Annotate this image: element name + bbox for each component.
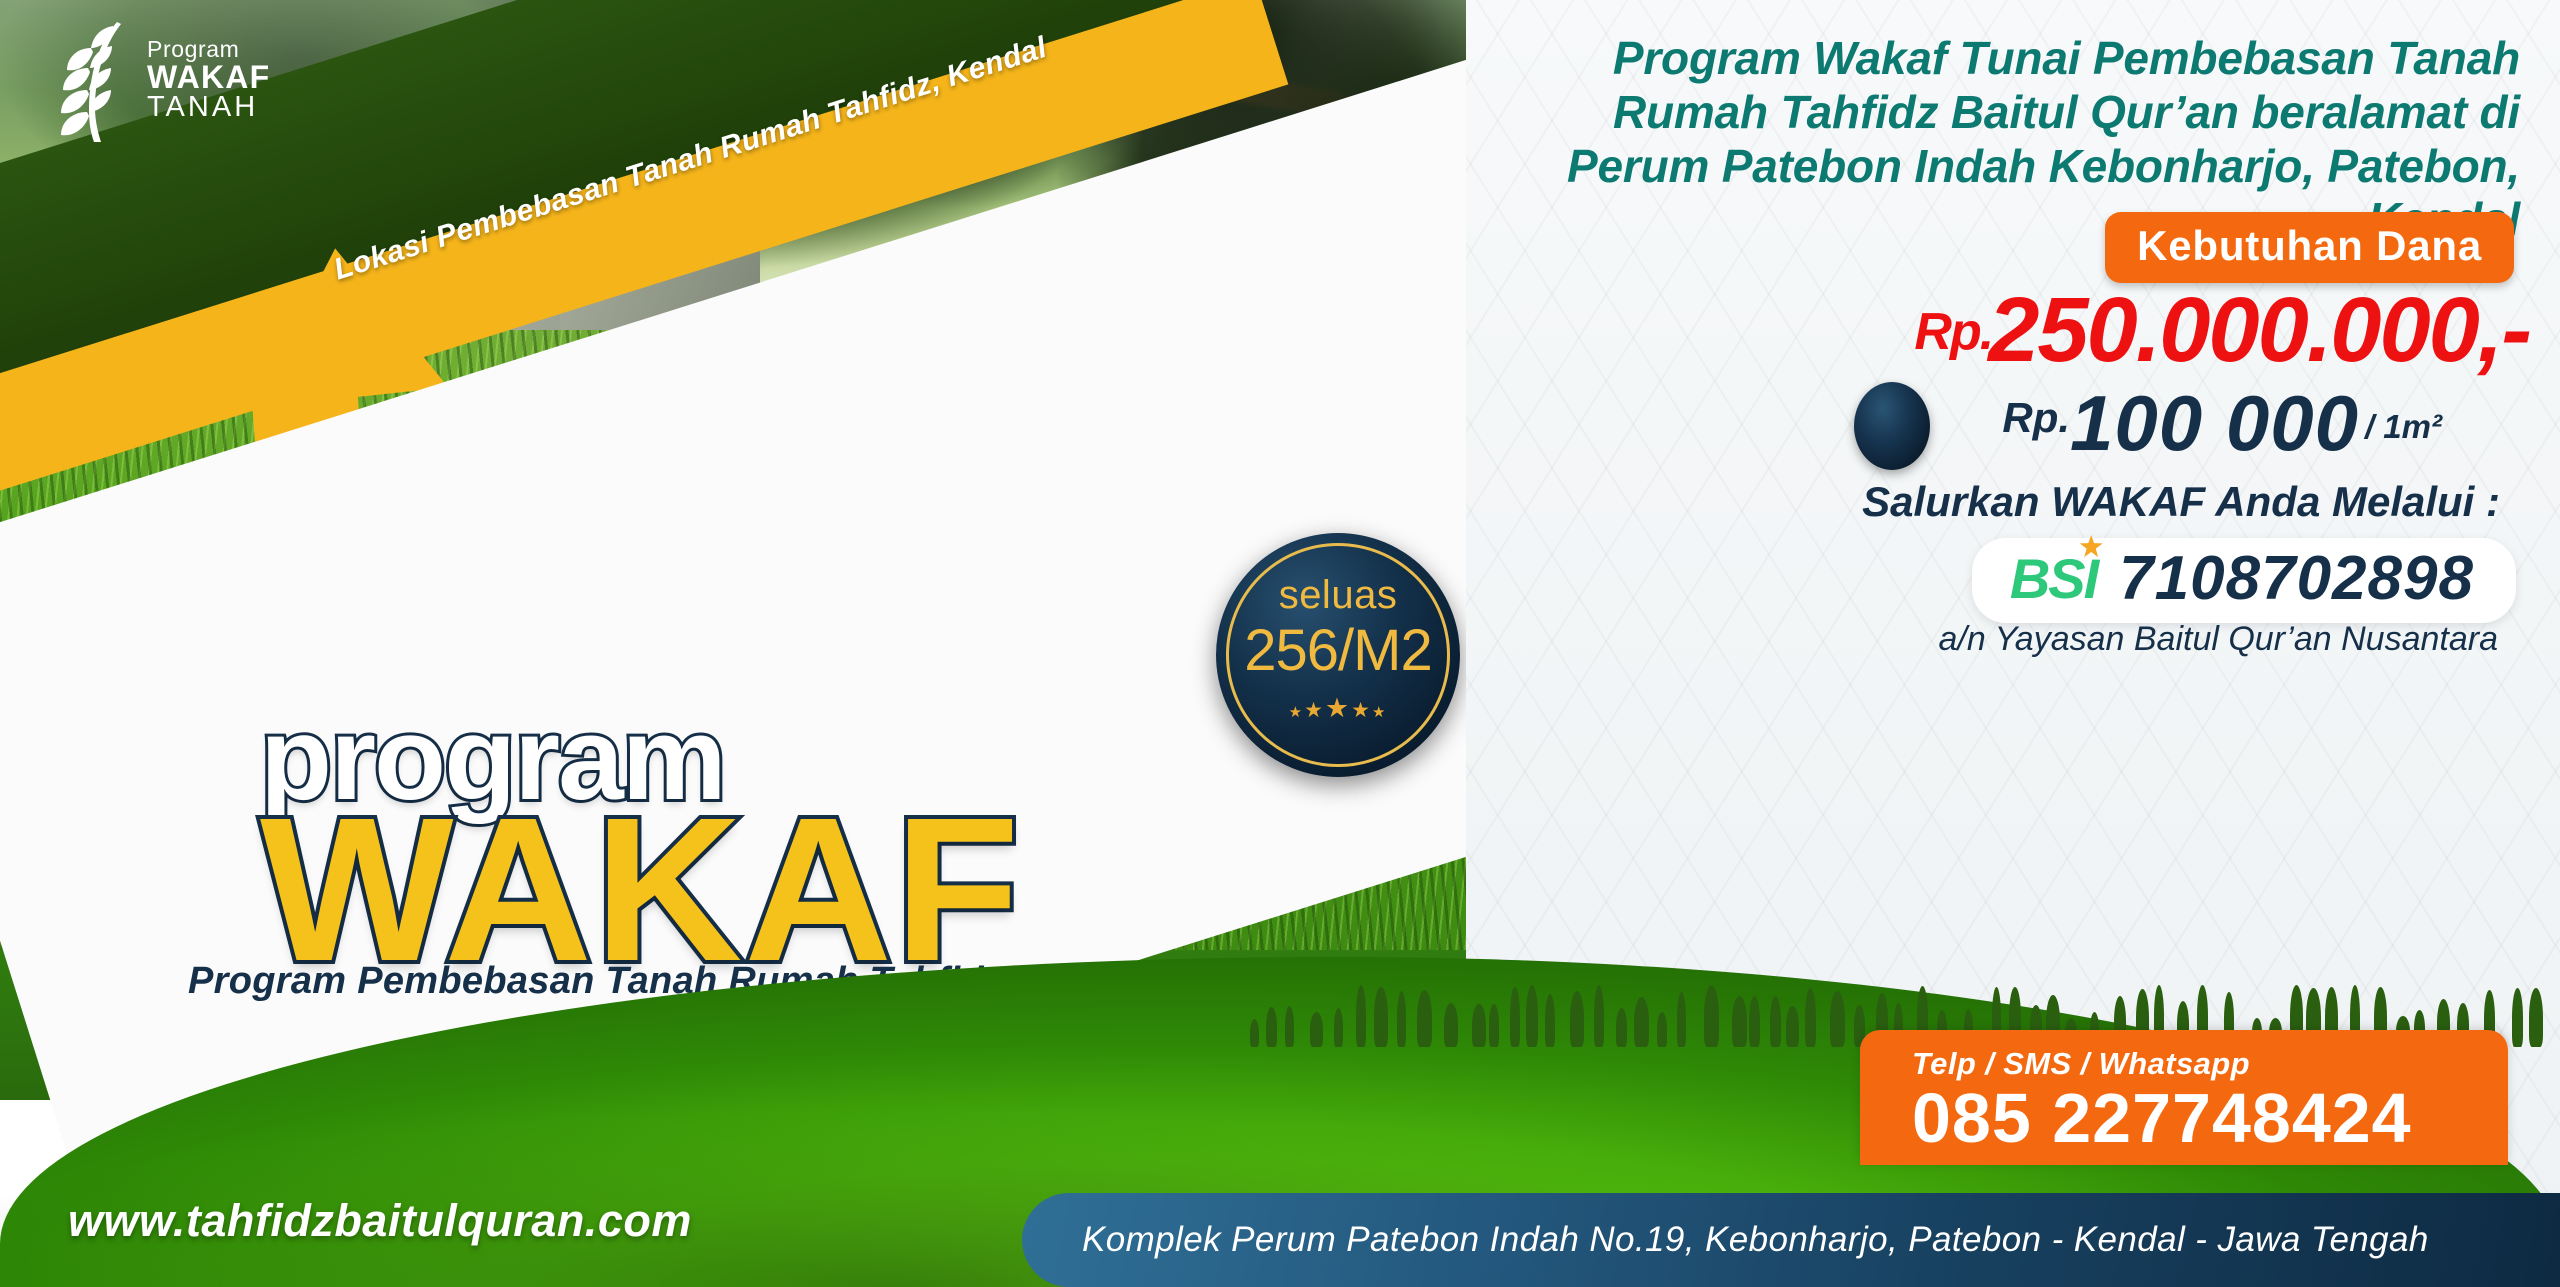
area-badge: seluas 256/M2 ★★★★★: [1216, 533, 1460, 777]
unit-price-value: 100 000: [2070, 379, 2359, 467]
account-number: 7108702898: [2119, 548, 2474, 610]
laurel-wreath-icon: [55, 18, 147, 143]
main-wordmark: program WAKAF Program Pembebasan Tanah R…: [260, 705, 1022, 980]
bullet-ellipse-icon: [1854, 382, 1930, 470]
price-currency: Rp.: [1914, 303, 1992, 361]
contact-number: 085 227748424: [1912, 1082, 2508, 1155]
logo-line-tanah: TANAH: [147, 93, 270, 122]
bsi-star-icon: [2079, 535, 2103, 559]
website-url[interactable]: www.tahfidzbaitulquran.com: [68, 1195, 692, 1247]
fund-need-badge: Kebutuhan Dana: [2105, 212, 2514, 283]
address-bar: Komplek Perum Patebon Indah No.19, Kebon…: [1022, 1193, 2560, 1287]
contact-label: Telp / SMS / Whatsapp: [1912, 1046, 2508, 1082]
account-holder: a/n Yayasan Baitul Qur’an Nusantara: [1939, 620, 2498, 659]
bsi-logo: BSI: [2010, 551, 2097, 607]
address-text: Komplek Perum Patebon Indah No.19, Kebon…: [1022, 1220, 2429, 1260]
badge-value: 256/M2: [1216, 617, 1460, 684]
wordmark-wakaf: WAKAF: [260, 800, 1022, 980]
target-amount: Rp.250.000.000,-: [1914, 278, 2530, 383]
unit-price-unit: / 1m²: [2365, 408, 2442, 445]
badge-label: seluas: [1216, 573, 1460, 618]
program-wakaf-tanah-logo: Program WAKAF TANAH: [55, 18, 295, 143]
logo-line-program: Program: [147, 38, 270, 61]
logo-line-wakaf: WAKAF: [147, 61, 270, 93]
donate-via-label: Salurkan WAKAF Anda Melalui :: [1862, 478, 2500, 526]
bank-account-pill[interactable]: BSI 7108702898: [1972, 538, 2516, 623]
unit-price: Rp.100 000/ 1m²: [2002, 378, 2442, 469]
price-value: 250.000.000,-: [1988, 279, 2530, 381]
wakaf-banner: Lokasi Pembebasan Tanah Rumah Tahfidz, K…: [0, 0, 2560, 1287]
contact-box[interactable]: Telp / SMS / Whatsapp 085 227748424: [1860, 1030, 2508, 1165]
unit-price-currency: Rp.: [2002, 394, 2070, 441]
badge-stars-icon: ★★★★★: [1216, 693, 1460, 724]
logo-text-block: Program WAKAF TANAH: [147, 38, 270, 122]
